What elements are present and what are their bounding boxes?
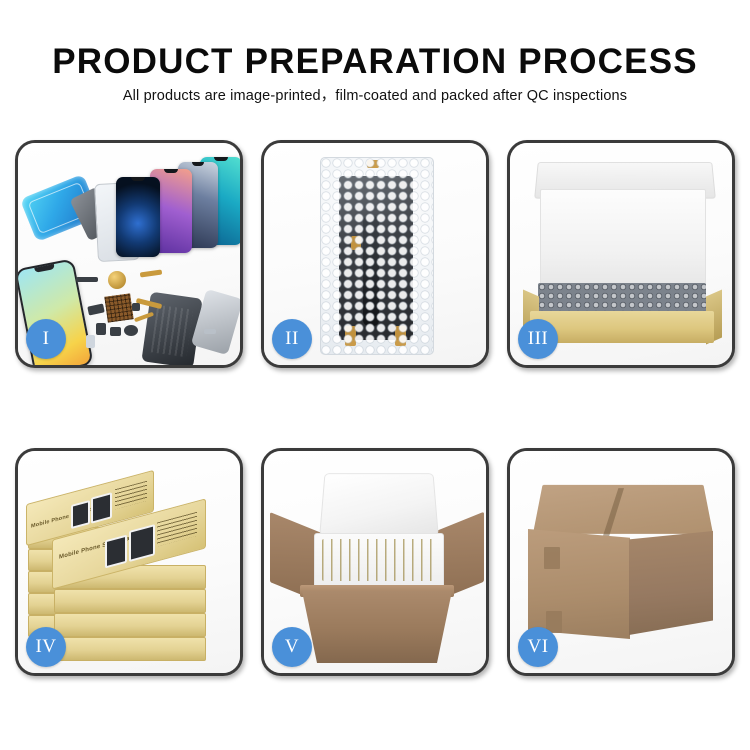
stacked-box-front-4 xyxy=(54,637,206,661)
speaker-module-icon xyxy=(108,271,126,289)
box-thumbnail-rear-2 xyxy=(91,492,112,524)
carton-tape-upper xyxy=(544,547,560,569)
component-icon-8 xyxy=(204,329,216,334)
step-panel-5: V xyxy=(261,448,489,676)
page-header: PRODUCT PREPARATION PROCESS All products… xyxy=(0,0,750,128)
page-title: PRODUCT PREPARATION PROCESS xyxy=(0,44,750,79)
component-icon-5 xyxy=(124,325,138,336)
carton-body xyxy=(302,591,452,663)
box-thumbnail-rear-1 xyxy=(71,500,90,529)
box-thumbnail-front-2 xyxy=(129,524,155,562)
phone-parts-assortment-image: I xyxy=(18,143,240,365)
component-icon-3 xyxy=(96,323,106,335)
step-panel-4: Mobile Phone Spare Parts Mobile Phone Sp… xyxy=(15,448,243,676)
bubble-wrapped-part-image: II xyxy=(264,143,486,365)
phone-display-blue-icon xyxy=(116,177,160,257)
sealed-shipping-carton-image: VI xyxy=(510,451,732,673)
component-icon-2 xyxy=(87,303,105,315)
open-kraft-box-image: III xyxy=(510,143,732,365)
step-badge-3: III xyxy=(518,319,558,359)
foam-liner xyxy=(540,189,706,297)
carton-front-face xyxy=(528,529,630,639)
flex-cable-icon-1 xyxy=(140,269,162,277)
foam-box-lid xyxy=(319,473,439,535)
component-icon-6 xyxy=(86,335,95,348)
step-panel-6: VI xyxy=(507,448,735,676)
carton-top-face xyxy=(533,485,713,534)
step-panel-3: III xyxy=(507,140,735,368)
component-icon-7 xyxy=(132,303,140,311)
box-thumbnail-front-1 xyxy=(105,535,127,569)
box-spec-lines-front xyxy=(157,512,197,547)
kraft-boxes-inside xyxy=(322,539,434,581)
bubble-wrap-bag xyxy=(320,157,434,355)
box-spec-lines-rear xyxy=(115,481,147,510)
step-badge-2: II xyxy=(272,319,312,359)
step-badge-6: VI xyxy=(518,627,558,667)
step-badge-1: I xyxy=(26,319,66,359)
carton-side-face xyxy=(629,531,713,635)
carton-with-foam-box-image: V xyxy=(264,451,486,673)
page-subtitle: All products are image-printed，film-coat… xyxy=(0,89,750,104)
process-steps-grid: I II III xyxy=(15,140,735,676)
step-panel-1: I xyxy=(15,140,243,368)
component-icon-4 xyxy=(110,327,121,336)
step-badge-5: V xyxy=(272,627,312,667)
stacked-box-front-3 xyxy=(54,613,206,637)
component-icon-1 xyxy=(76,277,98,282)
step-badge-4: IV xyxy=(26,627,66,667)
stacked-box-front-2 xyxy=(54,589,206,613)
step-panel-2: II xyxy=(261,140,489,368)
chip-board-icon xyxy=(104,293,133,322)
stacked-retail-boxes-image: Mobile Phone Spare Parts Mobile Phone Sp… xyxy=(18,451,240,673)
bubble-texture xyxy=(321,158,433,354)
